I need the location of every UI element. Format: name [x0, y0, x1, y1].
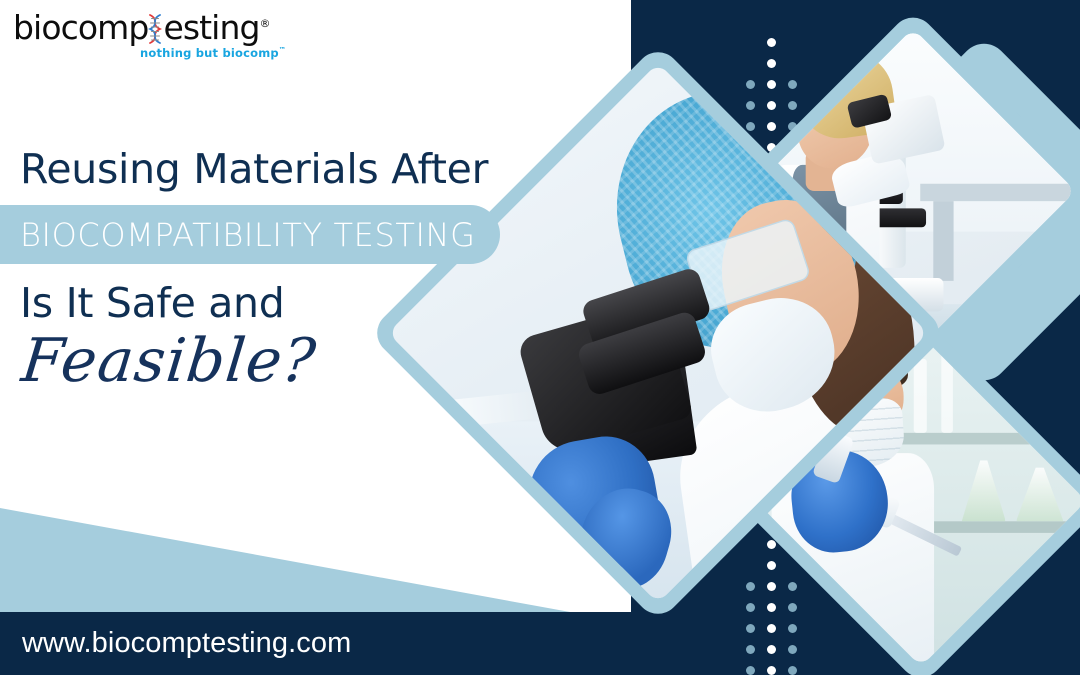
decorative-dot	[746, 80, 755, 89]
decorative-dot	[788, 582, 797, 591]
decorative-dot	[746, 122, 755, 131]
logo-word-part2: esting	[163, 8, 259, 47]
decorative-dot	[788, 603, 797, 612]
decorative-dot	[788, 59, 797, 68]
logo-wordmark: biocompesting®	[13, 11, 271, 44]
logo-tagline: nothing but biocomp™	[140, 46, 286, 60]
decorative-dot	[767, 59, 776, 68]
decorative-dot	[746, 582, 755, 591]
decorative-dot	[767, 666, 776, 675]
headline-block: Reusing Materials After BIOCOMPATIBILITY…	[0, 148, 560, 391]
decorative-dot	[788, 101, 797, 110]
decorative-dot	[788, 666, 797, 675]
dna-helix-icon	[147, 14, 164, 44]
decorative-dot	[788, 561, 797, 570]
decorative-dot	[767, 561, 776, 570]
logo[interactable]: biocompesting® nothing but biocomp™	[0, 0, 258, 73]
headline-line-3: Is It Safe and	[20, 282, 560, 325]
registered-trademark: ®	[260, 17, 271, 30]
decorative-dot	[767, 540, 776, 549]
decorative-dot	[746, 540, 755, 549]
decorative-dot	[788, 80, 797, 89]
headline-line-1: Reusing Materials After	[20, 148, 560, 191]
decorative-dot	[767, 582, 776, 591]
decorative-dot	[746, 624, 755, 633]
decorative-dot	[746, 603, 755, 612]
headline-script-line: Feasible?	[19, 331, 563, 391]
decorative-dot	[788, 624, 797, 633]
decorative-dot	[767, 624, 776, 633]
headline-highlight-pill: BIOCOMPATIBILITY TESTING	[0, 205, 500, 264]
decorative-dot	[746, 645, 755, 654]
trademark-symbol: ™	[279, 46, 286, 54]
decorative-dot	[746, 561, 755, 570]
decorative-dot	[746, 38, 755, 47]
decorative-dot	[746, 101, 755, 110]
logo-word-part1: biocomp	[13, 8, 148, 47]
headline-pill-text: BIOCOMPATIBILITY TESTING	[20, 216, 475, 254]
decorative-dot	[746, 59, 755, 68]
decorative-dot	[767, 101, 776, 110]
marketing-banner: biocompesting® nothing but biocomp™ Reus…	[0, 0, 1080, 675]
decorative-dot	[788, 645, 797, 654]
decorative-dot	[788, 38, 797, 47]
decorative-dot	[767, 603, 776, 612]
decorative-dot	[767, 38, 776, 47]
decorative-dot	[767, 122, 776, 131]
website-url[interactable]: www.biocomptesting.com	[22, 626, 351, 659]
decorative-dot	[746, 666, 755, 675]
decorative-dot	[767, 645, 776, 654]
logo-tagline-text: nothing but biocomp	[140, 46, 279, 60]
decorative-dot	[767, 80, 776, 89]
